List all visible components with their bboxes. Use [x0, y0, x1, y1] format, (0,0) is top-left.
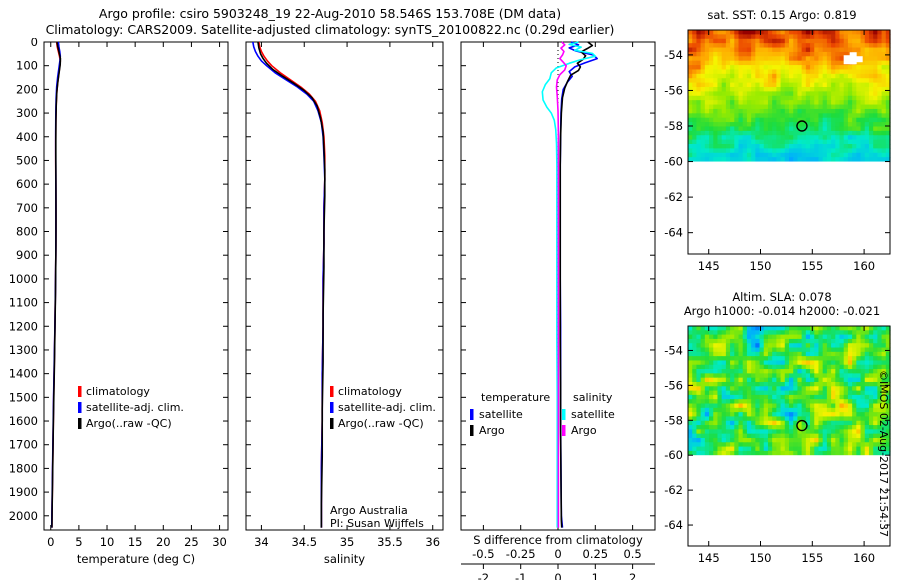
map-cell	[873, 30, 878, 35]
map-cell	[734, 373, 739, 378]
map-cell	[722, 343, 727, 348]
map-cell	[717, 442, 722, 447]
lon-tick-label: 160	[853, 259, 875, 273]
map-cell	[835, 434, 840, 439]
map-cell	[764, 352, 769, 357]
map-cell	[781, 131, 786, 136]
map-cell	[743, 404, 748, 409]
map-cell	[730, 442, 735, 447]
map-cell	[827, 373, 832, 378]
map-cell	[709, 157, 714, 162]
map-cell	[701, 382, 706, 387]
map-cell	[865, 153, 870, 158]
map-cell	[810, 34, 815, 39]
map-cell	[764, 360, 769, 365]
map-cell	[873, 131, 878, 136]
map-cell	[717, 140, 722, 145]
map-cell	[873, 339, 878, 344]
map-cell	[797, 442, 802, 447]
map-cell	[793, 442, 798, 447]
map-cell	[856, 438, 861, 443]
map-cell	[688, 131, 693, 136]
map-cell	[873, 34, 878, 39]
map-cell	[726, 399, 731, 404]
map-cell	[814, 131, 819, 136]
map-cell	[760, 434, 765, 439]
map-cell	[789, 30, 794, 35]
map-cell	[861, 91, 866, 96]
map-cell	[831, 348, 836, 353]
map-cell	[743, 399, 748, 404]
map-cell	[785, 56, 790, 61]
map-cell	[785, 118, 790, 123]
map-cell	[797, 39, 802, 44]
map-cell	[856, 118, 861, 123]
map-cell	[701, 451, 706, 456]
map-cell	[793, 43, 798, 48]
map-cell	[789, 65, 794, 70]
map-cell	[840, 348, 845, 353]
map-cell	[810, 365, 815, 370]
map-cell	[848, 412, 853, 417]
map-cell	[869, 348, 874, 353]
map-cell	[831, 326, 836, 331]
map-cell	[831, 442, 836, 447]
map-cell	[848, 118, 853, 123]
map-cell	[818, 140, 823, 145]
map-cell	[717, 48, 722, 53]
map-cell	[831, 386, 836, 391]
map-cell	[831, 100, 836, 105]
map-cell	[713, 52, 718, 57]
map-cell	[768, 425, 773, 430]
x-tick-label: 30	[212, 535, 227, 549]
map-cell	[739, 335, 744, 340]
map-cell	[701, 352, 706, 357]
map-cell	[861, 78, 866, 83]
map-cell	[768, 157, 773, 162]
map-cell	[781, 30, 786, 35]
map-cell	[739, 395, 744, 400]
map-cell	[865, 434, 870, 439]
map-cell	[823, 39, 828, 44]
map-cell	[755, 421, 760, 426]
map-cell	[768, 131, 773, 136]
map-cell	[835, 96, 840, 101]
map-cell	[861, 65, 866, 70]
map-cell	[726, 326, 731, 331]
x-tick-label: 0	[47, 535, 54, 549]
map-cell	[823, 404, 828, 409]
map-cell	[751, 447, 756, 452]
map-cell	[835, 451, 840, 456]
map-cell	[831, 447, 836, 452]
map-cell	[772, 416, 777, 421]
map-cell	[882, 100, 887, 105]
map-cell	[818, 105, 823, 110]
map-cell	[739, 404, 744, 409]
map-cell	[835, 365, 840, 370]
map-cell	[709, 365, 714, 370]
map-cell	[844, 412, 849, 417]
map-cell	[772, 425, 777, 430]
map-cell	[844, 395, 849, 400]
map-cell	[713, 356, 718, 361]
sst-map[interactable]: -54-56-58-60-62-64145150155160	[664, 26, 900, 288]
map-cell	[823, 157, 828, 162]
map-cell	[768, 391, 773, 396]
map-cell	[772, 378, 777, 383]
map-cell	[806, 87, 811, 92]
map-cell	[717, 153, 722, 158]
map-cell	[776, 48, 781, 53]
map-cell	[751, 153, 756, 158]
map-cell	[785, 131, 790, 136]
map-cell	[877, 39, 882, 44]
map-cell	[856, 135, 861, 140]
map-cell	[877, 65, 882, 70]
x-tick-label: -1	[515, 571, 526, 580]
map-cell	[713, 140, 718, 145]
map-cell	[776, 365, 781, 370]
map-cell	[835, 78, 840, 83]
map-cell	[781, 96, 786, 101]
map-cell	[818, 100, 823, 105]
map-cell	[865, 122, 870, 127]
map-cell	[835, 425, 840, 430]
map-cell	[793, 330, 798, 335]
y-tick-label: 100	[16, 59, 38, 73]
map-cell	[831, 78, 836, 83]
map-cell	[810, 135, 815, 140]
map-cell	[856, 74, 861, 79]
map-cell	[814, 416, 819, 421]
map-cell	[747, 404, 752, 409]
map-cell	[789, 330, 794, 335]
map-cell	[768, 438, 773, 443]
map-cell	[747, 335, 752, 340]
map-cell	[848, 352, 853, 357]
map-cell	[739, 365, 744, 370]
map-cell	[755, 335, 760, 340]
map-cell	[747, 118, 752, 123]
map-cell	[865, 386, 870, 391]
map-cell	[730, 122, 735, 127]
map-cell	[789, 326, 794, 331]
x-tick-label: 35.5	[377, 535, 403, 549]
map-cell	[772, 105, 777, 110]
map-cell	[848, 109, 853, 114]
map-cell	[709, 451, 714, 456]
map-cell	[814, 87, 819, 92]
map-cell	[705, 391, 710, 396]
map-cell	[726, 52, 731, 57]
map-cell	[818, 391, 823, 396]
map-cell	[852, 100, 857, 105]
map-cell	[814, 335, 819, 340]
map-cell	[781, 65, 786, 70]
map-cell	[755, 447, 760, 452]
map-cell	[781, 34, 786, 39]
map-cell	[848, 356, 853, 361]
map-cell	[835, 34, 840, 39]
map-cell	[701, 118, 706, 123]
map-cell	[734, 34, 739, 39]
map-cell	[810, 83, 815, 88]
map-cell	[722, 65, 727, 70]
map-cell	[692, 39, 697, 44]
map-cell	[772, 157, 777, 162]
map-cell	[856, 330, 861, 335]
map-cell	[789, 378, 794, 383]
map-cell	[869, 91, 874, 96]
map-cell	[692, 421, 697, 426]
map-cell	[869, 148, 874, 153]
map-cell	[713, 91, 718, 96]
map-cell	[726, 369, 731, 374]
map-cell	[865, 447, 870, 452]
map-cell	[865, 148, 870, 153]
map-cell	[768, 61, 773, 66]
map-cell	[865, 421, 870, 426]
legend-label: Argo(..raw -QC)	[338, 417, 424, 430]
map-cell	[734, 382, 739, 387]
legend-label: climatology	[86, 385, 150, 398]
map-cell	[823, 348, 828, 353]
map-cell	[743, 91, 748, 96]
map-cell	[764, 144, 769, 149]
map-cell	[797, 343, 802, 348]
map-cell	[814, 43, 819, 48]
map-cell	[882, 78, 887, 83]
sla-map[interactable]: -54-56-58-60-62-64145150155160	[664, 322, 900, 580]
map-cell	[840, 122, 845, 127]
map-cell	[802, 412, 807, 417]
map-cell	[734, 330, 739, 335]
map-cell	[772, 429, 777, 434]
lon-tick-label: 145	[698, 259, 720, 273]
map-cell	[848, 416, 853, 421]
map-cell	[785, 87, 790, 92]
map-cell	[730, 408, 735, 413]
map-cell	[772, 109, 777, 114]
map-cell	[814, 135, 819, 140]
map-cell	[873, 109, 878, 114]
map-cell	[785, 52, 790, 57]
map-cell	[776, 348, 781, 353]
map-cell	[869, 113, 874, 118]
map-cell	[810, 109, 815, 114]
map-cell	[789, 87, 794, 92]
map-cell	[692, 335, 697, 340]
map-cell	[789, 395, 794, 400]
map-cell	[827, 404, 832, 409]
map-cell	[764, 153, 769, 158]
map-cell	[781, 369, 786, 374]
map-cell	[696, 326, 701, 331]
map-cell	[764, 157, 769, 162]
map-cell	[785, 404, 790, 409]
map-cell	[869, 404, 874, 409]
map-cell	[692, 118, 697, 123]
map-cell	[818, 386, 823, 391]
map-cell	[856, 425, 861, 430]
map-cell	[848, 339, 853, 344]
map-cell	[793, 74, 798, 79]
map-cell	[785, 30, 790, 35]
map-cell	[831, 404, 836, 409]
map-cell	[743, 118, 748, 123]
map-cell	[760, 408, 765, 413]
map-cell	[873, 330, 878, 335]
map-cell	[705, 429, 710, 434]
map-cell	[739, 408, 744, 413]
map-cell	[730, 438, 735, 443]
map-cell	[882, 61, 887, 66]
map-cell	[730, 126, 735, 131]
map-cell	[873, 43, 878, 48]
map-cell	[856, 404, 861, 409]
map-cell	[797, 386, 802, 391]
map-cell	[688, 135, 693, 140]
map-cell	[818, 451, 823, 456]
map-cell	[877, 118, 882, 123]
map-cell	[806, 109, 811, 114]
map-cell	[755, 352, 760, 357]
map-cell	[776, 373, 781, 378]
map-cell	[865, 113, 870, 118]
map-cell	[772, 356, 777, 361]
map-cell	[806, 391, 811, 396]
map-cell	[726, 339, 731, 344]
map-cell	[877, 78, 882, 83]
map-cell	[806, 438, 811, 443]
map-cell	[848, 365, 853, 370]
map-cell	[823, 52, 828, 57]
map-cell	[856, 352, 861, 357]
map-cell	[827, 140, 832, 145]
map-cell	[709, 131, 714, 136]
map-cell	[793, 369, 798, 374]
map-cell	[739, 343, 744, 348]
map-cell	[882, 126, 887, 131]
map-cell	[806, 96, 811, 101]
map-cell	[722, 100, 727, 105]
map-cell	[743, 78, 748, 83]
map-cell	[844, 438, 849, 443]
map-cell	[785, 74, 790, 79]
map-cell	[768, 339, 773, 344]
map-cell	[781, 373, 786, 378]
map-cell	[726, 343, 731, 348]
map-cell	[861, 153, 866, 158]
map-cell	[802, 48, 807, 53]
map-cell	[772, 113, 777, 118]
map-cell	[831, 378, 836, 383]
map-cell	[840, 335, 845, 340]
map-cell	[856, 416, 861, 421]
map-cell	[743, 69, 748, 74]
map-cell	[789, 360, 794, 365]
map-cell	[747, 425, 752, 430]
map-cell	[882, 109, 887, 114]
map-cell	[755, 391, 760, 396]
map-cell	[747, 135, 752, 140]
y-tick-label: 1500	[9, 390, 38, 404]
map-cell	[730, 378, 735, 383]
map-cell	[772, 373, 777, 378]
map-cell	[781, 356, 786, 361]
map-cell	[848, 148, 853, 153]
map-cell	[743, 425, 748, 430]
map-cell	[717, 65, 722, 70]
map-cell	[823, 78, 828, 83]
map-cell	[852, 343, 857, 348]
map-cell	[730, 157, 735, 162]
map-cell	[781, 343, 786, 348]
map-cell	[865, 78, 870, 83]
map-cell	[861, 373, 866, 378]
map-cell	[877, 330, 882, 335]
map-cell	[739, 105, 744, 110]
map-cell	[814, 122, 819, 127]
map-cell	[726, 360, 731, 365]
map-cell	[751, 144, 756, 149]
map-cell	[877, 122, 882, 127]
map-cell	[861, 356, 866, 361]
map-cell	[781, 378, 786, 383]
map-cell	[722, 30, 727, 35]
map-cell	[844, 118, 849, 123]
map-cell	[840, 118, 845, 123]
map-cell	[734, 144, 739, 149]
map-cell	[776, 30, 781, 35]
map-cell	[755, 109, 760, 114]
map-cell	[701, 87, 706, 92]
map-cell	[751, 386, 756, 391]
map-cell	[734, 391, 739, 396]
map-cell	[793, 335, 798, 340]
map-cell	[810, 382, 815, 387]
map-cell	[734, 378, 739, 383]
map-cell	[726, 412, 731, 417]
map-cell	[848, 442, 853, 447]
map-cell	[848, 404, 853, 409]
map-cell	[806, 404, 811, 409]
map-cell	[701, 34, 706, 39]
map-cell	[709, 348, 714, 353]
map-cell	[844, 74, 849, 79]
map-cell	[844, 83, 849, 88]
map-cell	[768, 348, 773, 353]
map-cell	[764, 339, 769, 344]
map-cell	[856, 105, 861, 110]
map-cell	[747, 113, 752, 118]
map-cell	[751, 429, 756, 434]
y-tick-label: 1400	[9, 367, 38, 381]
map-cell	[709, 87, 714, 92]
map-cell	[722, 438, 727, 443]
map-cell	[789, 74, 794, 79]
map-cell	[814, 399, 819, 404]
map-cell	[734, 78, 739, 83]
map-cell	[713, 399, 718, 404]
map-cell	[818, 412, 823, 417]
map-cell	[802, 148, 807, 153]
map-cell	[772, 365, 777, 370]
map-cell	[743, 113, 748, 118]
map-cell	[873, 105, 878, 110]
